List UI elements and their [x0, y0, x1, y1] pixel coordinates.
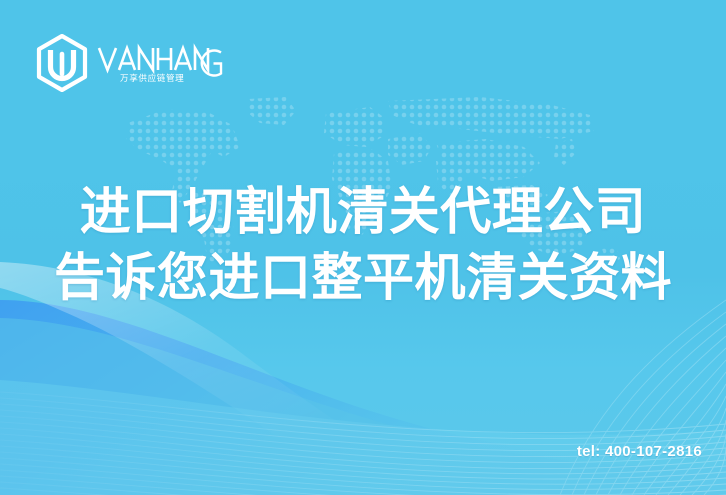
vanhang-logo: 万享供应链管理	[33, 33, 223, 93]
logo-subtitle-text: 万享供应链管理	[120, 72, 184, 84]
headline-line-1: 进口切割机清关代理公司	[0, 182, 726, 242]
promo-banner: 万享供应链管理 进口切割机清关代理公司 告诉您进口整平机清关资料 tel: 40…	[0, 0, 726, 495]
contact-telephone: tel: 400-107-2816	[577, 443, 702, 460]
headline-block: 进口切割机清关代理公司 告诉您进口整平机清关资料	[0, 182, 726, 308]
vanhang-hexagon-mark-icon	[33, 34, 91, 92]
headline-line-2: 告诉您进口整平机清关资料	[0, 248, 726, 308]
vanhang-wordmark: 万享供应链管理	[97, 40, 223, 86]
